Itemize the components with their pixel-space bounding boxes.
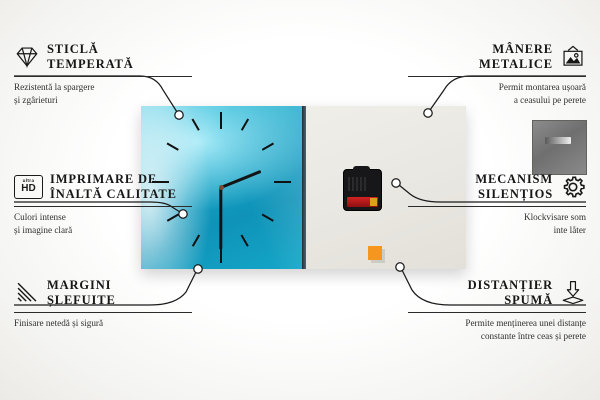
feature-subtitle: Finisare netedă și sigură xyxy=(14,317,192,329)
feature-header: ultra HD IMPRIMARE DE ÎNALTĂ CALITATE xyxy=(14,172,192,201)
feature-sticla-temperata: STICLĂ TEMPERATĂ Rezistentă la spargere … xyxy=(14,42,192,106)
mechanism-detail xyxy=(348,177,368,191)
divider xyxy=(14,206,192,207)
picture-frame-hanger-icon xyxy=(560,44,586,70)
feature-title: DISTANȚIER SPUMĂ xyxy=(468,278,553,307)
gear-icon xyxy=(560,174,586,200)
foam-spacer-arrow-icon xyxy=(560,280,586,306)
feature-subtitle: și imagine clară xyxy=(14,224,192,236)
feature-title: STICLĂ TEMPERATĂ xyxy=(47,42,134,71)
feature-subtitle: Permit montarea ușoară xyxy=(408,81,586,93)
divider xyxy=(408,312,586,313)
clock-tick xyxy=(274,181,291,183)
polished-edges-icon xyxy=(14,280,40,306)
feature-subtitle: Permite menținerea unei distanțe xyxy=(408,317,586,329)
feature-title: MARGINI ȘLEFUITE xyxy=(47,278,116,307)
feature-title: MECANISM SILENȚIOS xyxy=(475,172,553,201)
feature-subtitle: inte låter xyxy=(408,224,586,236)
feature-subtitle: Rezistentă la spargere xyxy=(14,81,192,93)
divider xyxy=(408,206,586,207)
clock-minute-hand xyxy=(220,187,223,249)
mechanism-tab xyxy=(353,166,370,172)
ultra-hd-icon: ultra HD xyxy=(14,175,43,199)
feature-margini-slefuite: MARGINI ȘLEFUITE Finisare netedă și sigu… xyxy=(14,278,192,330)
clock-tick xyxy=(220,112,222,129)
feature-header: MECANISM SILENȚIOS xyxy=(408,172,586,201)
foam-spacer xyxy=(368,246,382,260)
battery-terminal xyxy=(370,198,377,206)
feature-mecanism-silentios: MECANISM SILENȚIOS Klockvisare som inte … xyxy=(408,172,586,236)
feature-imprimare-inalta-calitate: ultra HD IMPRIMARE DE ÎNALTĂ CALITATE Cu… xyxy=(14,172,192,236)
infographic-canvas: STICLĂ TEMPERATĂ Rezistentă la spargere … xyxy=(0,0,600,400)
feature-header: MÂNERE METALICE xyxy=(408,42,586,71)
feature-subtitle: constante între ceas și perete xyxy=(408,330,586,342)
feature-subtitle: a ceasului pe perete xyxy=(408,94,586,106)
feature-header: MARGINI ȘLEFUITE xyxy=(14,278,192,307)
feature-title: IMPRIMARE DE ÎNALTĂ CALITATE xyxy=(50,172,177,201)
metal-hanger xyxy=(532,120,587,175)
hanger-slot xyxy=(545,137,571,144)
feature-subtitle: și zgârieturi xyxy=(14,94,192,106)
feature-header: DISTANȚIER SPUMĂ xyxy=(408,278,586,307)
divider xyxy=(14,76,192,77)
feature-subtitle: Klockvisare som xyxy=(408,211,586,223)
feature-title: MÂNERE METALICE xyxy=(479,42,553,71)
feature-subtitle: Culori intense xyxy=(14,211,192,223)
divider xyxy=(408,76,586,77)
hd-label: HD xyxy=(21,184,35,194)
feature-manere-metalice: MÂNERE METALICE Permit montarea ușoară a… xyxy=(408,42,586,106)
divider xyxy=(14,312,192,313)
feature-distantier-spuma: DISTANȚIER SPUMĂ Permite menținerea unei… xyxy=(408,278,586,342)
clock-center-cap xyxy=(219,185,224,190)
feature-header: STICLĂ TEMPERATĂ xyxy=(14,42,192,71)
diamond-icon xyxy=(14,44,40,70)
battery xyxy=(347,197,378,207)
clock-mechanism xyxy=(343,169,382,211)
